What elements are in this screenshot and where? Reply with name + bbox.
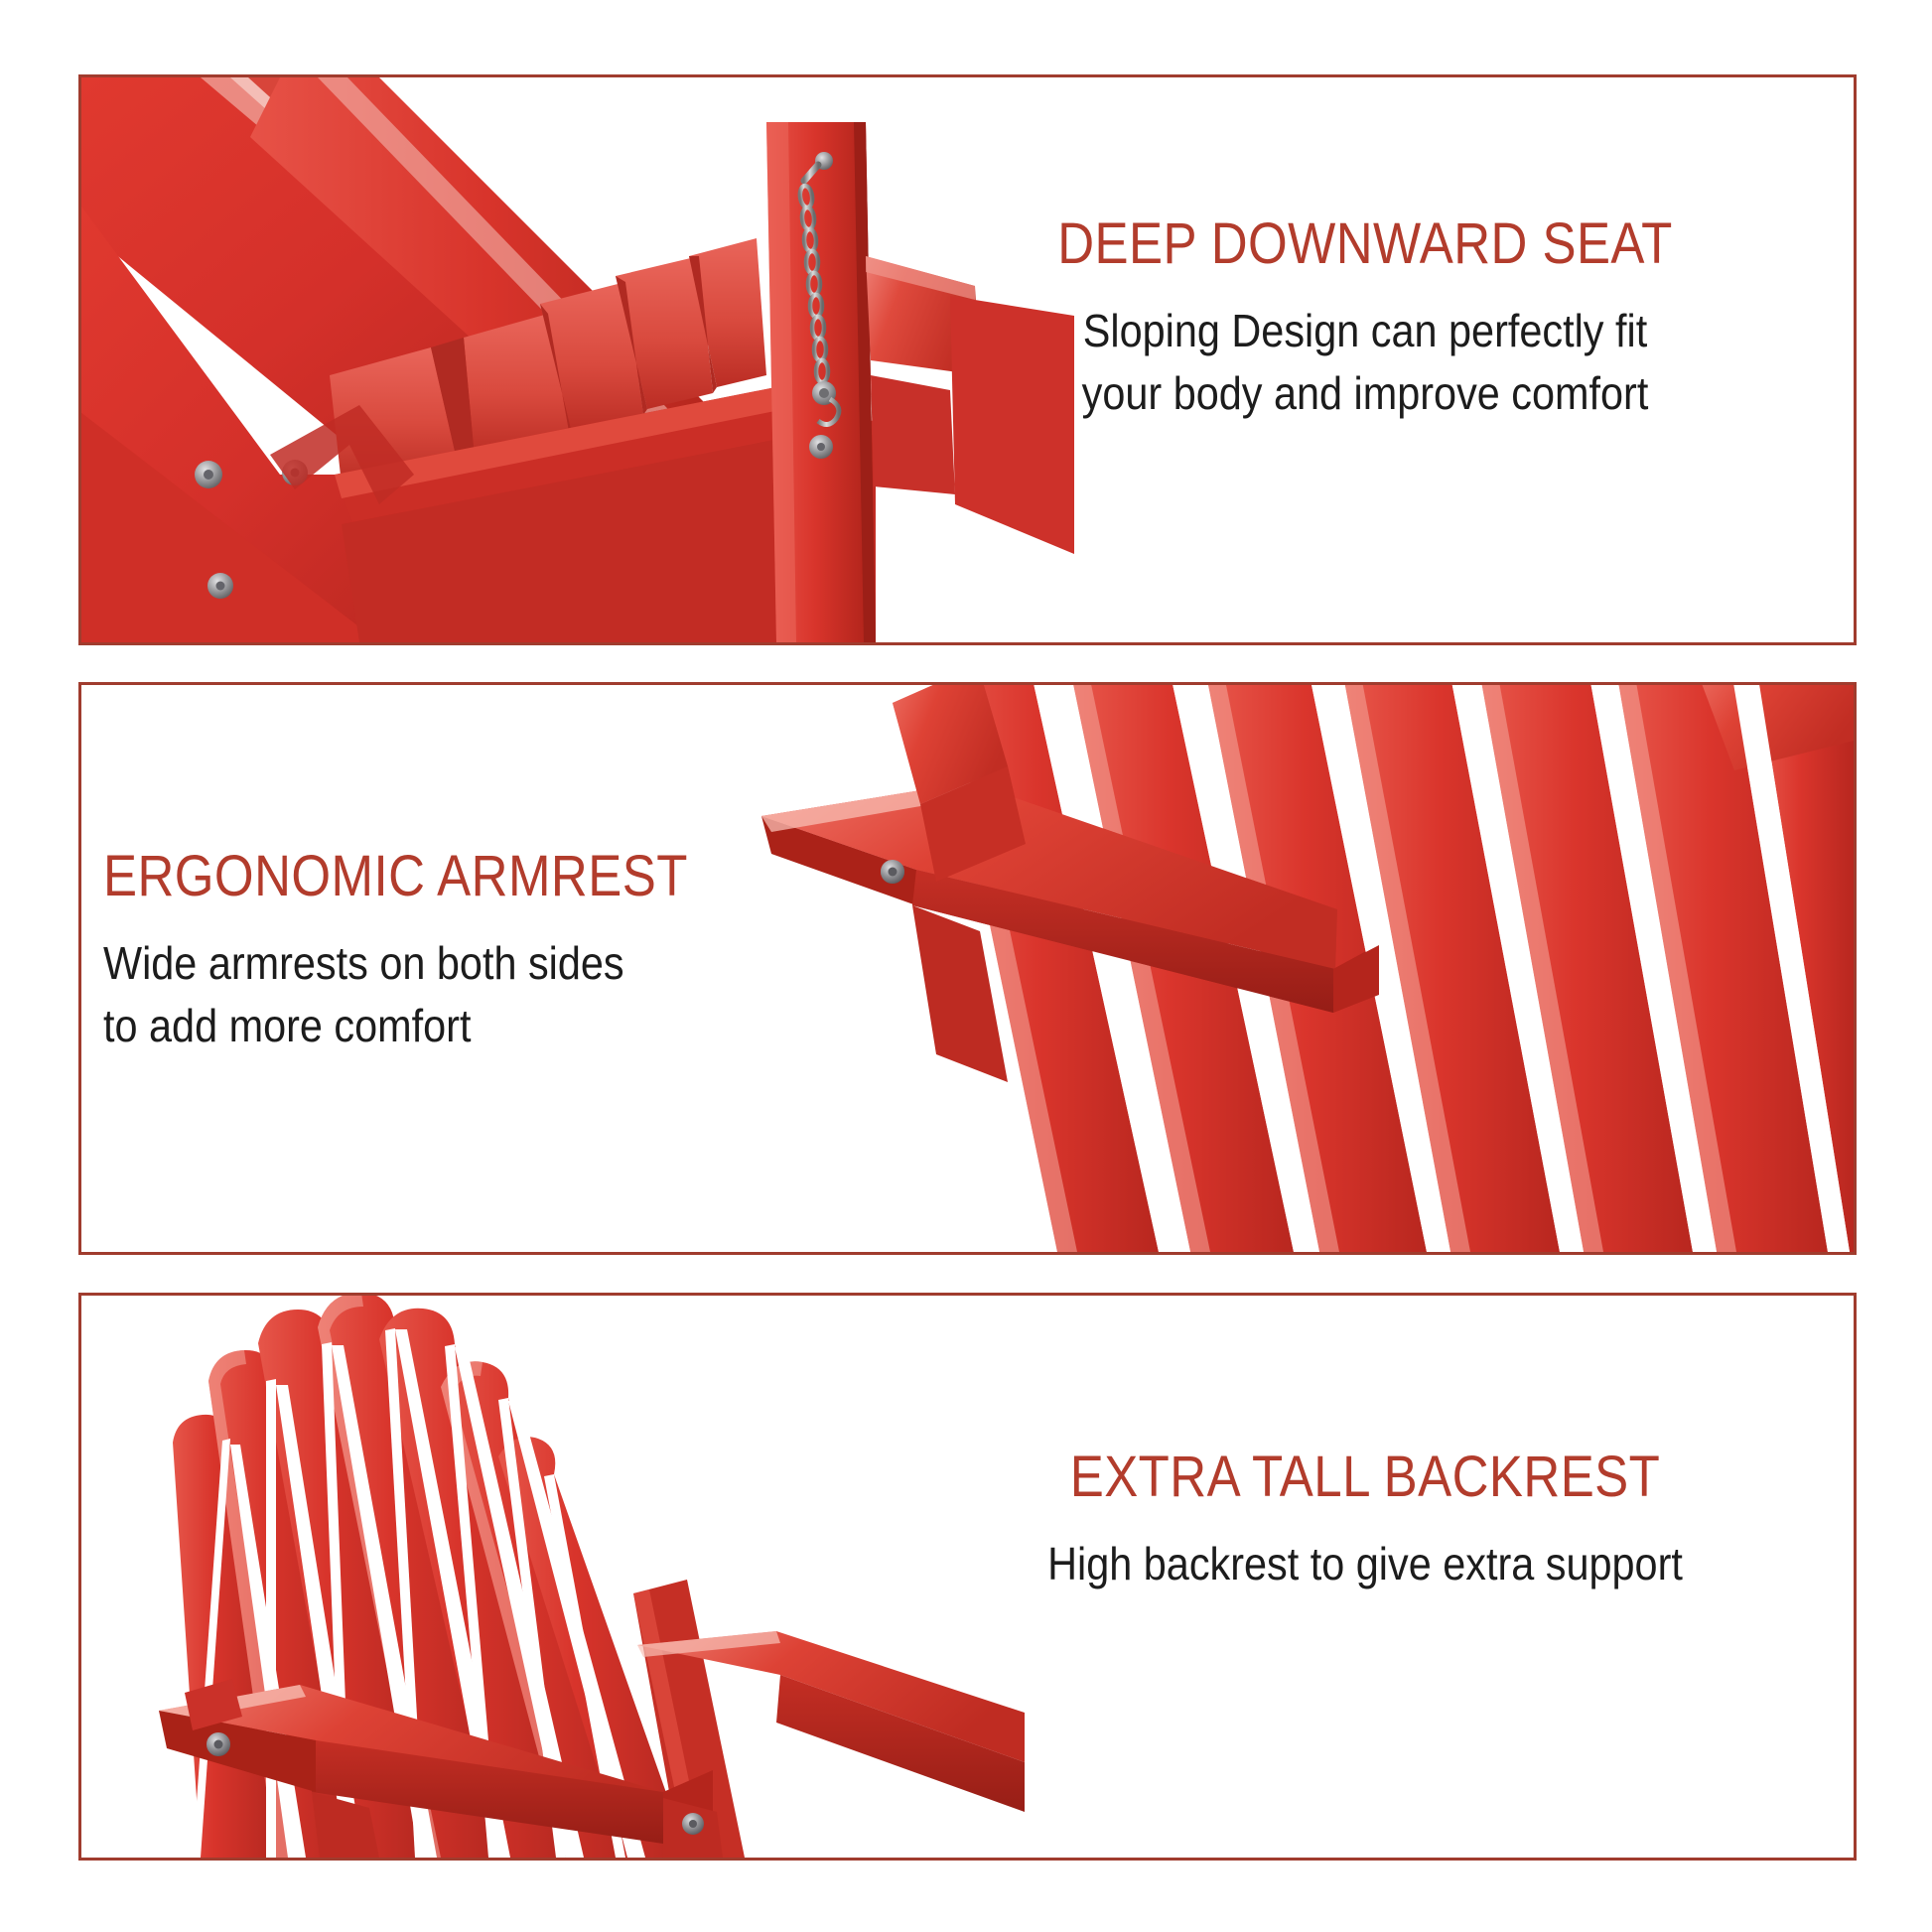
feature-body-line: Wide armrests on both sides <box>103 932 809 995</box>
feature-text-deep-downward-seat: DEEP DOWNWARD SEAT Sloping Design can pe… <box>898 211 1832 426</box>
feature-panel-deep-downward-seat: DEEP DOWNWARD SEAT Sloping Design can pe… <box>78 74 1857 645</box>
feature-heading-ergonomic-armrest: ERGONOMIC ARMREST <box>103 844 793 910</box>
feature-body-extra-tall-backrest: High backrest to give extra support <box>945 1533 1785 1595</box>
feature-text-extra-tall-backrest: EXTRA TALL BACKREST High backrest to giv… <box>898 1445 1832 1595</box>
feature-body-line: your body and improve comfort <box>945 362 1785 425</box>
feature-body-line: to add more comfort <box>103 995 809 1057</box>
feature-panel-extra-tall-backrest: EXTRA TALL BACKREST High backrest to giv… <box>78 1293 1857 1861</box>
armrest-closeup-illustration <box>742 685 1854 1252</box>
feature-body-line: High backrest to give extra support <box>945 1533 1785 1595</box>
feature-text-ergonomic-armrest: ERGONOMIC ARMREST Wide armrests on both … <box>103 844 888 1058</box>
feature-body-line: Sloping Design can perfectly fit <box>945 300 1785 362</box>
product-photo-extra-tall-backrest <box>81 1296 1025 1858</box>
backrest-chair-illustration <box>81 1296 1025 1858</box>
feature-body-deep-downward-seat: Sloping Design can perfectly fit your bo… <box>945 300 1785 426</box>
feature-panel-ergonomic-armrest: ERGONOMIC ARMREST Wide armrests on both … <box>78 682 1857 1255</box>
feature-heading-extra-tall-backrest: EXTRA TALL BACKREST <box>954 1445 1775 1511</box>
feature-body-ergonomic-armrest: Wide armrests on both sides to add more … <box>103 932 809 1058</box>
product-photo-ergonomic-armrest <box>742 685 1854 1252</box>
infographic-root: DEEP DOWNWARD SEAT Sloping Design can pe… <box>0 0 1932 1932</box>
feature-heading-deep-downward-seat: DEEP DOWNWARD SEAT <box>954 211 1775 278</box>
